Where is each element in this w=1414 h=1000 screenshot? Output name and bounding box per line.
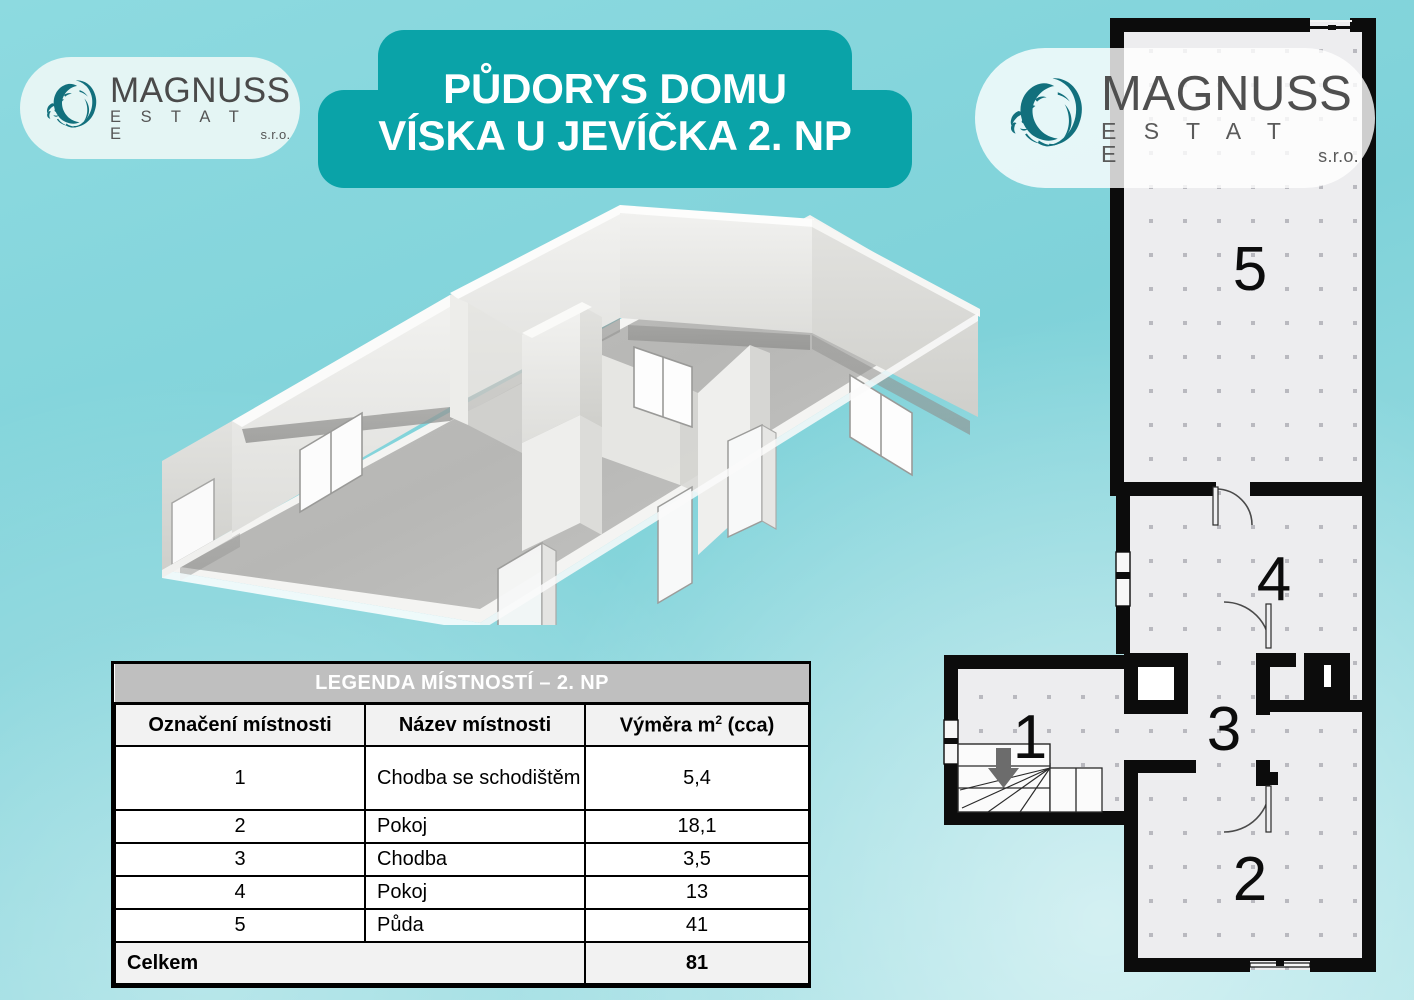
legend-total-row: Celkem 81 [115,942,809,984]
table-row: 1 Chodba se schodištěm 5,4 [115,746,809,810]
legend-header-row: Označení místnosti Název místnosti Výměr… [115,704,809,747]
legend-table-element: LEGENDA MÍSTNOSTÍ – 2. NP Označení místn… [114,664,810,985]
room-4-area [1128,490,1370,648]
table-row: 2 Pokoj 18,1 [115,810,809,843]
row-code: 1 [115,746,365,810]
row-area: 18,1 [585,810,809,843]
title-line-2: VÍSKA U JEVÍČKA 2. NP [378,112,851,159]
row-name: Pokoj [365,876,585,909]
table-row: 4 Pokoj 13 [115,876,809,909]
render-3d-svg [150,185,980,625]
legend-title-row: LEGENDA MÍSTNOSTÍ – 2. NP [115,664,809,704]
header-code: Označení místnosti [115,704,365,747]
room-label-4: 4 [1257,545,1291,614]
logo-badge: MAGNUSS E S T A T E s.r.o. [20,57,300,159]
header-area-suffix: (cca) [722,714,774,736]
header-name: Název místnosti [365,704,585,747]
door-glyph [728,425,776,537]
header-area: Výměra m2 (cca) [585,704,809,747]
row-area: 41 [585,909,809,942]
isometric-3d-render [150,185,980,625]
row-area: 13 [585,876,809,909]
logo-wordmark: MAGNUSS E S T A T E s.r.o. [110,74,290,142]
lion-head-icon [40,77,100,139]
page-title: PŮDORYS DOMU VÍSKA U JEVÍČKA 2. NP [318,30,912,188]
room-label-5: 5 [1233,235,1267,304]
row-area: 5,4 [585,746,809,810]
row-code: 3 [115,843,365,876]
table-row: 5 Půda 41 [115,909,809,942]
row-code: 5 [115,909,365,942]
row-name: Chodba [365,843,585,876]
title-banner: PŮDORYS DOMU VÍSKA U JEVÍČKA 2. NP [318,30,912,188]
row-area: 3,5 [585,843,809,876]
floorplan: 1 2 3 4 5 [930,0,1414,1000]
lion-head-svg [40,77,100,139]
row-code: 2 [115,810,365,843]
row-code: 4 [115,876,365,909]
total-label: Celkem [115,942,585,984]
row-name: Pokoj [365,810,585,843]
poster-root: 1 2 3 4 5 [0,0,1414,1000]
header-area-main: Výměra m [620,714,716,736]
brand-suffix: s.r.o. [260,128,290,142]
total-value: 81 [585,942,809,984]
legend-title: LEGENDA MÍSTNOSTÍ – 2. NP [115,664,809,704]
room-label-3: 3 [1207,695,1241,764]
brand-name: MAGNUSS [110,74,290,108]
room-label-1: 1 [1013,703,1047,772]
row-name: Půda [365,909,585,942]
row-name: Chodba se schodištěm [365,746,585,810]
floorplan-svg: 1 2 3 4 5 [930,0,1414,1000]
legend-table: LEGENDA MÍSTNOSTÍ – 2. NP Označení místn… [111,661,811,988]
room-label-2: 2 [1233,845,1267,914]
title-line-1: PŮDORYS DOMU [443,65,787,112]
brand-subtitle: E S T A T E [110,109,255,142]
table-row: 3 Chodba 3,5 [115,843,809,876]
